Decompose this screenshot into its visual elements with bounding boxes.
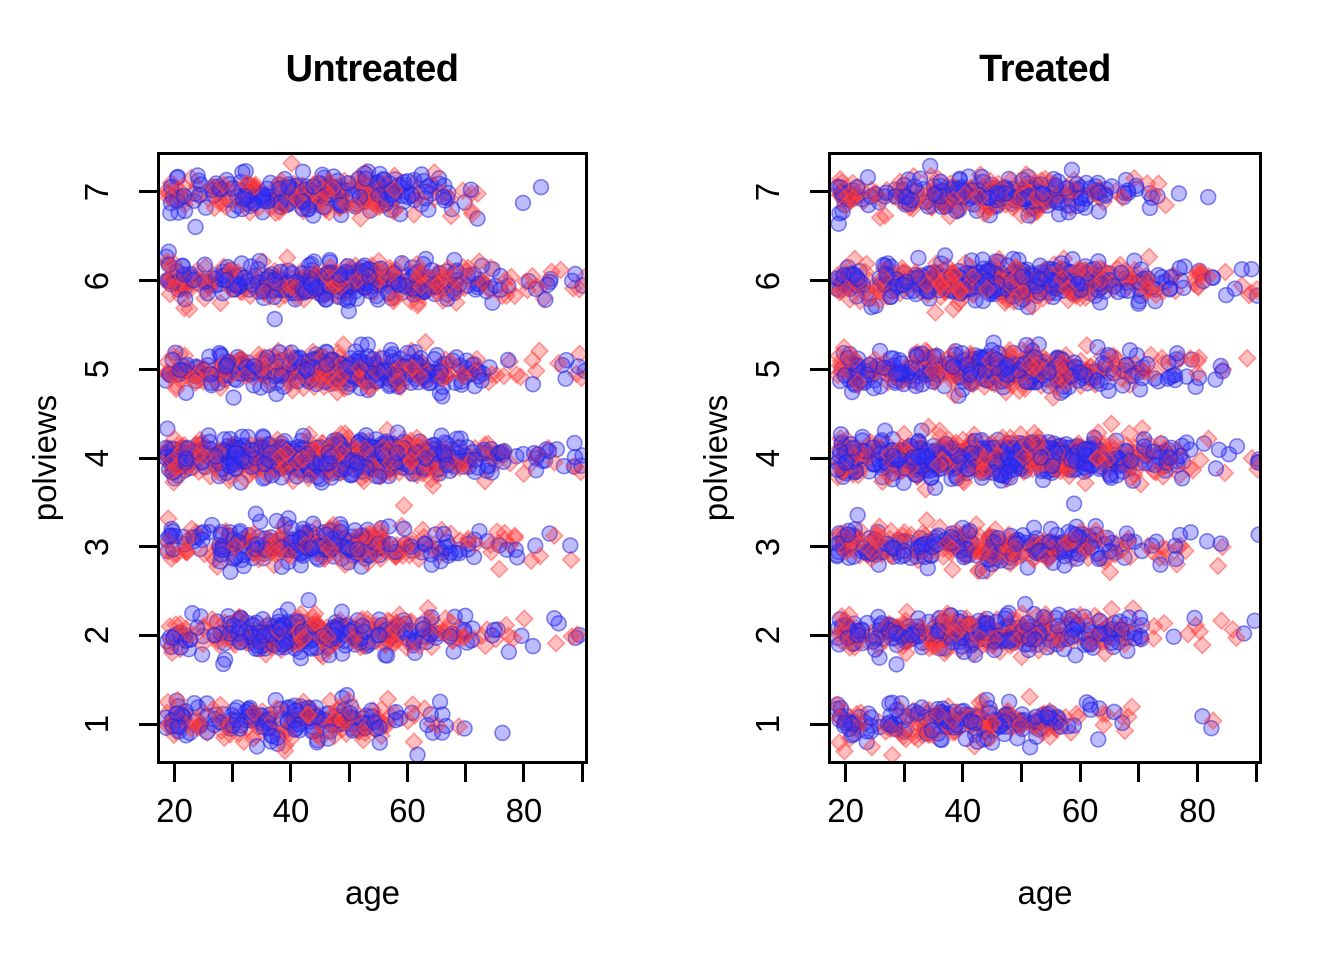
x-tick-70 <box>1137 764 1140 782</box>
x-tick-90 <box>581 764 584 782</box>
y-tick-label-5: 5 <box>748 339 788 399</box>
panel-title-treated: Treated <box>745 48 1344 91</box>
y-tick-2 <box>139 634 157 637</box>
x-tick-80 <box>522 764 525 782</box>
x-tick-label-80: 80 <box>464 792 584 830</box>
y-tick-label-1: 1 <box>77 694 117 754</box>
x-tick-30 <box>231 764 234 782</box>
y-tick-label-2: 2 <box>748 605 788 665</box>
x-tick-20 <box>173 764 176 782</box>
y-tick-7 <box>139 190 157 193</box>
panel-title-untreated: Untreated <box>72 48 672 91</box>
x-axis-label-treated: age <box>845 874 1245 912</box>
y-tick-7 <box>810 190 828 193</box>
x-tick-label-60: 60 <box>1020 792 1140 830</box>
y-tick-5 <box>810 368 828 371</box>
x-tick-40 <box>961 764 964 782</box>
x-tick-90 <box>1255 764 1258 782</box>
scatter-points-untreated <box>160 155 585 761</box>
plot-area-treated <box>828 152 1262 764</box>
plot-area-untreated <box>157 152 588 764</box>
x-tick-60 <box>1079 764 1082 782</box>
x-tick-label-40: 40 <box>903 792 1023 830</box>
y-tick-label-4: 4 <box>748 428 788 488</box>
y-tick-label-7: 7 <box>748 162 788 222</box>
y-tick-6 <box>810 279 828 282</box>
y-tick-label-6: 6 <box>748 251 788 311</box>
y-tick-label-3: 3 <box>748 517 788 577</box>
x-tick-80 <box>1196 764 1199 782</box>
y-tick-1 <box>139 723 157 726</box>
y-tick-label-5: 5 <box>77 339 117 399</box>
y-axis-label-treated: polviews <box>696 308 736 608</box>
y-tick-label-7: 7 <box>77 162 117 222</box>
x-tick-20 <box>844 764 847 782</box>
y-tick-3 <box>139 545 157 548</box>
scatter-points-treated <box>831 155 1259 761</box>
x-axis-label-untreated: age <box>173 874 573 912</box>
y-tick-5 <box>139 368 157 371</box>
y-tick-label-4: 4 <box>77 428 117 488</box>
x-tick-label-20: 20 <box>786 792 906 830</box>
y-tick-label-3: 3 <box>77 517 117 577</box>
y-tick-4 <box>810 457 828 460</box>
y-tick-1 <box>810 723 828 726</box>
x-tick-60 <box>406 764 409 782</box>
y-axis-label-untreated: polviews <box>25 308 65 608</box>
y-tick-2 <box>810 634 828 637</box>
y-tick-6 <box>139 279 157 282</box>
x-tick-70 <box>464 764 467 782</box>
y-tick-4 <box>139 457 157 460</box>
x-tick-label-60: 60 <box>347 792 467 830</box>
x-tick-40 <box>289 764 292 782</box>
y-tick-label-1: 1 <box>748 694 788 754</box>
x-tick-label-80: 80 <box>1137 792 1257 830</box>
x-tick-50 <box>1020 764 1023 782</box>
figure-canvas: Untreated 20406080 1234567 age polviews … <box>0 0 1344 960</box>
y-tick-label-2: 2 <box>77 605 117 665</box>
x-tick-label-40: 40 <box>231 792 351 830</box>
y-tick-3 <box>810 545 828 548</box>
x-tick-30 <box>903 764 906 782</box>
x-tick-50 <box>348 764 351 782</box>
x-tick-label-20: 20 <box>114 792 234 830</box>
y-tick-label-6: 6 <box>77 251 117 311</box>
